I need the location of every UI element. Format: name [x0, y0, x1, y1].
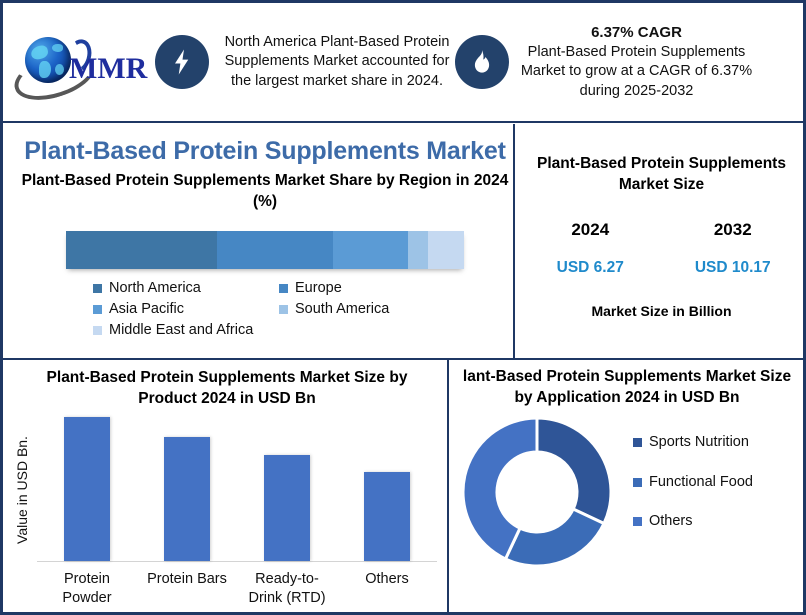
mmr-logo-graphic: MMR [11, 31, 151, 93]
application-chart-title: lant-Based Protein Supplements Market Si… [451, 363, 803, 408]
bar-column [43, 417, 131, 561]
region-share-title: Plant-Based Protein Supplements Market S… [15, 171, 515, 213]
donut-slice [537, 418, 611, 524]
bar [364, 472, 410, 561]
legend-item: North America [93, 278, 279, 299]
flame-icon [455, 35, 509, 89]
cagr-description: Plant-Based Protein Supplements Market t… [519, 43, 754, 101]
product-bar-chart: Plant-Based Protein Supplements Market S… [9, 363, 445, 613]
year-value-2024: USD 6.27 [525, 259, 656, 277]
legend-swatch-icon [93, 305, 102, 314]
region-segment [428, 231, 464, 269]
donut-graphic [457, 412, 617, 572]
legend-item: Europe [279, 278, 465, 299]
bar [264, 455, 310, 562]
top-banner: MMR North America Plant-Based Protein Su… [3, 3, 803, 121]
product-x-labels: Protein PowderProtein BarsReady-to-Drink… [37, 570, 437, 608]
product-bars-area [37, 417, 437, 562]
market-size-2024: 2024 USD 6.27 [525, 220, 656, 277]
cagr-headline: 6.37% CAGR [519, 23, 754, 43]
legend-swatch-icon [279, 305, 288, 314]
region-stacked-bar [66, 231, 464, 269]
banner-left-text: North America Plant-Based Protein Supple… [219, 33, 455, 91]
legend-item: Asia Pacific [93, 299, 279, 320]
legend-item: Others [633, 511, 753, 532]
application-donut-chart: lant-Based Protein Supplements Market Si… [451, 363, 803, 613]
legend-label: South America [295, 299, 389, 320]
divider-vertical-lower [447, 360, 449, 612]
lightning-bolt-icon [155, 35, 209, 89]
legend-label: Asia Pacific [109, 299, 184, 320]
legend-item: Functional Food [633, 472, 753, 493]
region-segment [66, 231, 217, 269]
region-segment [333, 231, 409, 269]
bar-x-label: Others [343, 570, 431, 608]
bar-column [243, 417, 331, 561]
year-label-2032: 2032 [667, 220, 798, 240]
market-size-panel: Plant-Based Protein Supplements Market S… [519, 153, 804, 319]
divider-middle [3, 358, 803, 360]
market-size-footer: Market Size in Billion [519, 303, 804, 319]
market-size-years: 2024 USD 6.27 2032 USD 10.17 [519, 220, 804, 277]
region-segment [408, 231, 428, 269]
brand-logo: MMR [3, 3, 155, 121]
bar-x-label: Protein Powder [43, 570, 131, 608]
legend-swatch-icon [633, 438, 642, 447]
market-size-title: Plant-Based Protein Supplements Market S… [519, 153, 804, 196]
legend-label: Others [649, 511, 693, 532]
region-share-chart: Plant-Based Protein Supplements Market S… [15, 171, 515, 341]
divider-top [3, 121, 803, 123]
donut-slice [505, 509, 603, 566]
legend-label: Europe [295, 278, 342, 299]
legend-item: South America [279, 299, 465, 320]
product-chart-plot: Value in USD Bn. Protein PowderProtein B… [9, 417, 445, 562]
year-value-2032: USD 10.17 [667, 259, 798, 277]
product-y-axis-label: Value in USD Bn. [11, 417, 33, 562]
page-title: Plant-Based Protein Supplements Market [15, 137, 515, 166]
year-label-2024: 2024 [525, 220, 656, 240]
bar-x-label: Protein Bars [143, 570, 231, 608]
legend-item: Middle East and Africa [93, 320, 279, 341]
infographic-root: MMR North America Plant-Based Protein Su… [0, 0, 806, 615]
legend-swatch-icon [633, 478, 642, 487]
region-legend: North AmericaEuropeAsia PacificSouth Ame… [65, 278, 465, 341]
legend-label: Middle East and Africa [109, 320, 253, 341]
application-chart-body: Sports NutritionFunctional FoodOthers [451, 414, 803, 574]
mmr-logo-text: MMR [69, 54, 147, 84]
bar-column [143, 417, 231, 561]
market-size-2032: 2032 USD 10.17 [667, 220, 798, 277]
legend-label: Functional Food [649, 472, 753, 493]
bar [164, 437, 210, 561]
banner-right-text: 6.37% CAGR Plant-Based Protein Supplemen… [519, 23, 754, 101]
legend-swatch-icon [633, 517, 642, 526]
legend-swatch-icon [93, 326, 102, 335]
bar-x-label: Ready-to-Drink (RTD) [243, 570, 331, 608]
legend-item: Sports Nutrition [633, 432, 753, 453]
legend-label: North America [109, 278, 201, 299]
region-segment [217, 231, 332, 269]
bar-column [343, 417, 431, 561]
product-chart-title: Plant-Based Protein Supplements Market S… [9, 363, 445, 409]
legend-swatch-icon [93, 284, 102, 293]
bar [64, 417, 110, 561]
globe-icon [25, 37, 71, 83]
legend-swatch-icon [279, 284, 288, 293]
application-legend: Sports NutritionFunctional FoodOthers [633, 432, 753, 550]
legend-label: Sports Nutrition [649, 432, 749, 453]
